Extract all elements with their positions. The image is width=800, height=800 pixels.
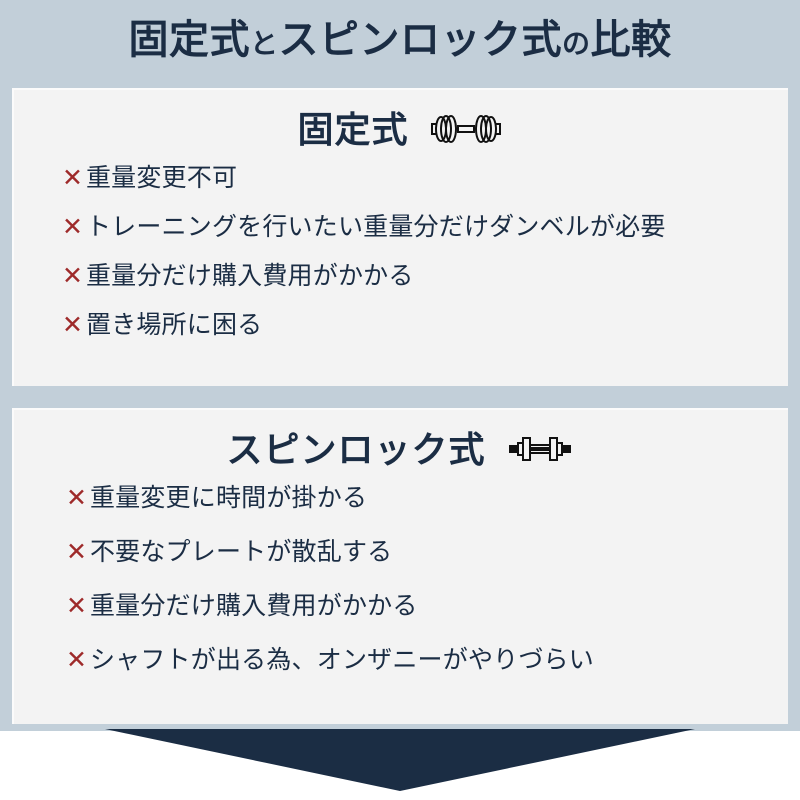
list-item-label: 重量分だけ購入費用がかかる [86, 260, 414, 292]
panel-fixed: 固定式 [12, 88, 788, 386]
list-item: ✕ 不要なプレートが散乱する [66, 536, 788, 568]
list-item: ✕ 重量分だけ購入費用がかかる [62, 260, 788, 292]
list-item-label: 重量変更に時間が掛かる [90, 482, 367, 514]
panel-spinlock-bullet-list: ✕ 重量変更に時間が掛かる ✕ 不要なプレートが散乱する ✕ 重量分だけ購入費用… [14, 482, 788, 676]
list-item-label: 置き場所に困る [86, 309, 262, 341]
list-item: ✕ 重量変更不可 [62, 162, 788, 194]
list-item: ✕ 重量変更に時間が掛かる [66, 482, 788, 514]
x-mark-icon: ✕ [66, 536, 87, 568]
title-part-spinlock: スピンロック式 [279, 17, 563, 63]
dumbbell-icon [427, 112, 505, 150]
comparison-infographic: 固定式とスピンロック式の比較 固定式 [0, 0, 800, 800]
x-mark-icon: ✕ [62, 162, 83, 194]
x-mark-icon: ✕ [62, 260, 83, 292]
title-particle-no: の [562, 27, 591, 60]
x-mark-icon: ✕ [62, 211, 83, 243]
list-item-label: 重量変更不可 [86, 162, 237, 194]
down-arrow [0, 729, 800, 800]
title-part-fixed: 固定式 [128, 17, 250, 63]
x-mark-icon: ✕ [62, 309, 83, 341]
list-item-label: シャフトが出る為、オンザニーがやりづらい [90, 644, 594, 676]
panel-fixed-header: 固定式 [14, 100, 788, 162]
title-part-comparison: 比較 [591, 17, 672, 63]
page-title: 固定式とスピンロック式の比較 [0, 14, 800, 70]
list-item: ✕ シャフトが出る為、オンザニーがやりづらい [66, 644, 788, 676]
panel-fixed-bullet-list: ✕ 重量変更不可 ✕ トレーニングを行いたい重量分だけダンベルが必要 ✕ 重量分… [14, 162, 788, 341]
panel-spinlock: スピンロック式 [12, 408, 788, 724]
x-mark-icon: ✕ [66, 482, 87, 514]
list-item-label: 不要なプレートが散乱する [90, 536, 392, 568]
title-particle-to: と [250, 27, 279, 60]
list-item-label: トレーニングを行いたい重量分だけダンベルが必要 [86, 211, 666, 243]
list-item: ✕ トレーニングを行いたい重量分だけダンベルが必要 [62, 211, 788, 243]
list-item: ✕ 重量分だけ購入費用がかかる [66, 590, 788, 622]
panel-spinlock-title: スピンロック式 [226, 429, 485, 473]
list-item-label: 重量分だけ購入費用がかかる [90, 590, 418, 622]
x-mark-icon: ✕ [66, 590, 87, 622]
panel-spinlock-header: スピンロック式 [14, 420, 788, 482]
spinlock-dumbbell-icon [504, 432, 576, 470]
panel-fixed-title: 固定式 [297, 109, 408, 153]
x-mark-icon: ✕ [66, 644, 87, 676]
list-item: ✕ 置き場所に困る [62, 309, 788, 341]
